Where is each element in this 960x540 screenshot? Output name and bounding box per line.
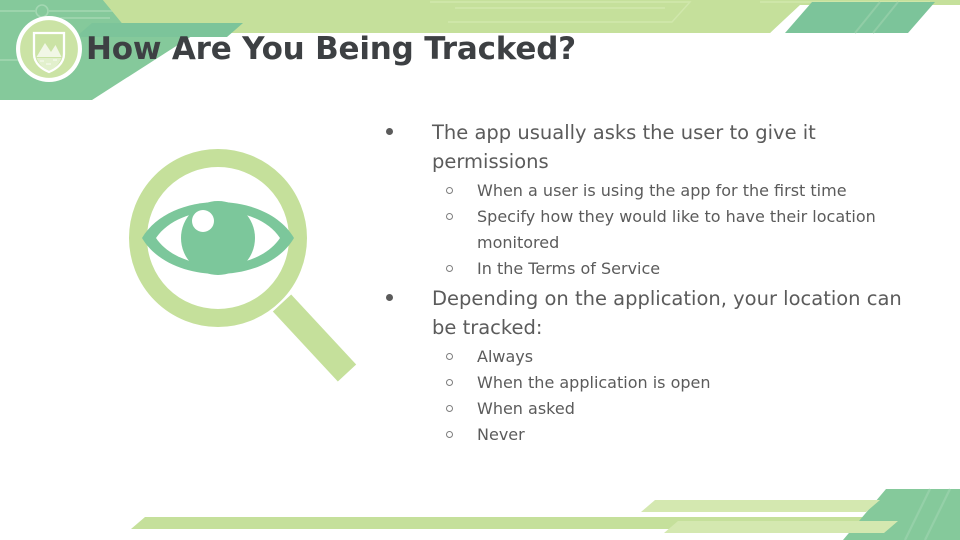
sub-bullet-text: In the Terms of Service bbox=[477, 259, 660, 278]
sub-bullet-text: When a user is using the app for the fir… bbox=[477, 181, 847, 200]
slide-body: The app usually asks the user to give it… bbox=[378, 118, 923, 450]
sub-bullet-list: When a user is using the app for the fir… bbox=[378, 178, 923, 282]
sub-bullet-item: Never bbox=[378, 422, 923, 448]
slide-title: How Are You Being Tracked? bbox=[86, 31, 576, 67]
bullet-marker-hollow bbox=[446, 431, 453, 438]
bottom-stripe-lower bbox=[664, 521, 898, 533]
top-light-green-band bbox=[103, 0, 960, 33]
sub-bullet-item: Specify how they would like to have thei… bbox=[378, 204, 923, 256]
mountain-shield-badge-logo bbox=[14, 14, 84, 84]
bullet-marker-hollow bbox=[446, 379, 453, 386]
bullet-group-2: Depending on the application, your locat… bbox=[378, 284, 923, 448]
bottom-light-green-bar bbox=[131, 517, 960, 529]
magnifier-handle bbox=[282, 303, 347, 373]
sub-bullet-item: In the Terms of Service bbox=[378, 256, 923, 282]
bullet-group-1: The app usually asks the user to give it… bbox=[378, 118, 923, 282]
bullet-item: Depending on the application, your locat… bbox=[378, 284, 923, 342]
bullet-marker-filled bbox=[386, 128, 393, 135]
bullet-text: The app usually asks the user to give it… bbox=[432, 121, 816, 173]
eye-highlight bbox=[192, 210, 214, 232]
sub-bullet-text: Always bbox=[477, 347, 533, 366]
bullet-item: The app usually asks the user to give it… bbox=[378, 118, 923, 176]
bullet-marker-filled bbox=[386, 294, 393, 301]
sub-bullet-text: Specify how they would like to have thei… bbox=[477, 207, 876, 252]
bullet-marker-hollow bbox=[446, 187, 453, 194]
eye-iris bbox=[181, 201, 255, 275]
bottom-right-teal-wedge bbox=[862, 489, 960, 540]
sub-bullet-list: Always When the application is open When… bbox=[378, 344, 923, 448]
top-band-hex-decoration bbox=[430, 2, 930, 22]
sub-bullet-item: When asked bbox=[378, 396, 923, 422]
sub-bullet-item: When the application is open bbox=[378, 370, 923, 396]
sub-bullet-text: When asked bbox=[477, 399, 575, 418]
bottom-stripe-upper bbox=[641, 500, 880, 512]
sub-bullet-item: Always bbox=[378, 344, 923, 370]
magnifying-glass-eye-illustration bbox=[125, 145, 365, 385]
sub-bullet-text: Never bbox=[477, 425, 525, 444]
top-right-teal-parallelogram bbox=[785, 2, 935, 33]
sub-bullet-text: When the application is open bbox=[477, 373, 711, 392]
bullet-marker-hollow bbox=[446, 265, 453, 272]
sub-bullet-item: When a user is using the app for the fir… bbox=[378, 178, 923, 204]
bullet-text: Depending on the application, your locat… bbox=[432, 287, 902, 339]
slide-canvas: How Are You Being Tracked? The app usual… bbox=[0, 0, 960, 540]
bullet-marker-hollow bbox=[446, 213, 453, 220]
bullet-marker-hollow bbox=[446, 405, 453, 412]
bullet-marker-hollow bbox=[446, 353, 453, 360]
